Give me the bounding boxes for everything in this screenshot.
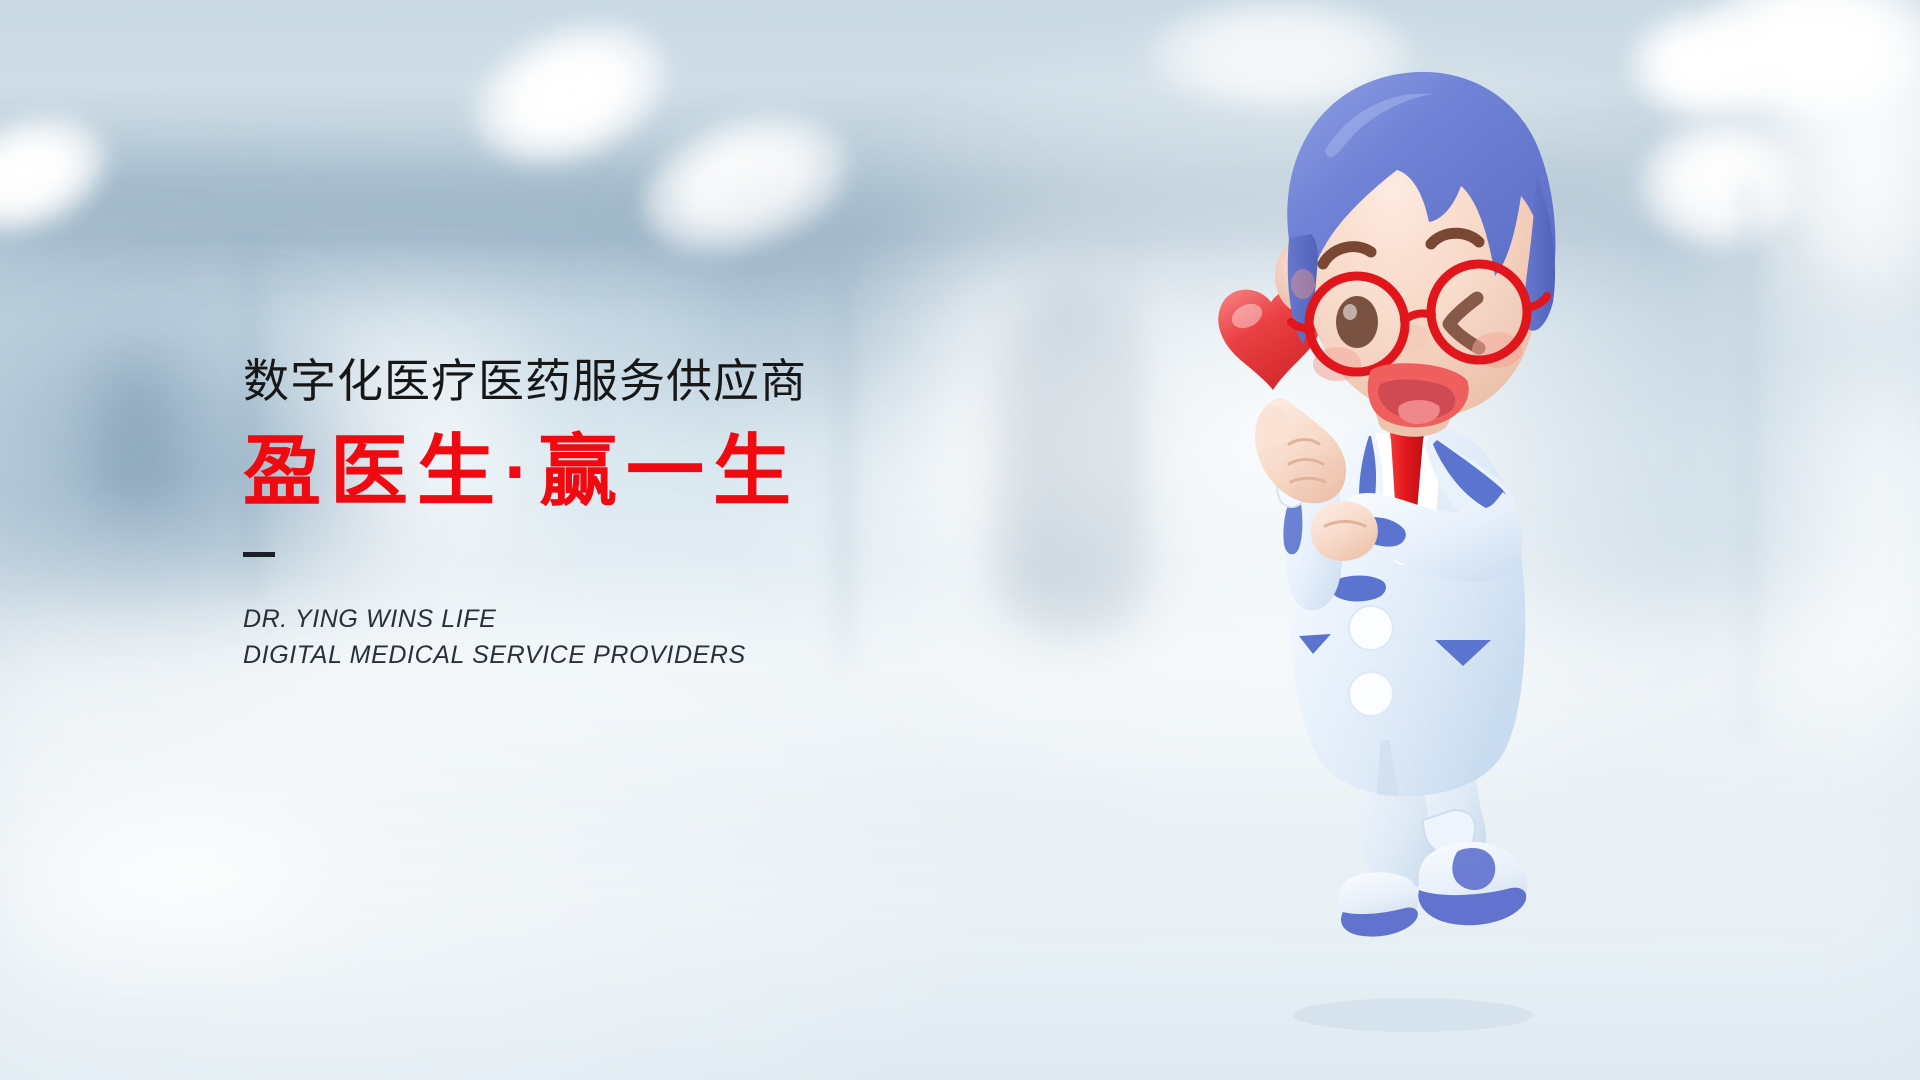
blush-ear-left (1291, 269, 1315, 299)
hero-title: 盈医生·赢一生 (243, 428, 1003, 515)
subtitle-line-2: DIGITAL MEDICAL SERVICE PROVIDERS (243, 637, 1003, 674)
mascot-shadow (1293, 998, 1533, 1032)
shoe-front-strap (1452, 848, 1495, 890)
coat-button-top (1349, 606, 1393, 650)
subtitle-line-1: DR. YING WINS LIFE (243, 601, 1003, 638)
coat-button-bottom (1349, 672, 1393, 716)
glasses-lens-right (1431, 264, 1527, 360)
hero-copy: 数字化医疗医药服务供应商 盈医生·赢一生 DR. YING WINS LIFE … (243, 355, 1003, 674)
hero-headline: 数字化医疗医药服务供应商 (243, 355, 1003, 408)
title-divider (243, 552, 275, 557)
hand-resting (1311, 501, 1378, 561)
hero-subtitles: DR. YING WINS LIFE DIGITAL MEDICAL SERVI… (243, 601, 1003, 674)
hero-banner: 数字化医疗医药服务供应商 盈医生·赢一生 DR. YING WINS LIFE … (0, 0, 1920, 1080)
glasses-lens-left (1309, 276, 1405, 372)
doctor-mascot-illustration (1185, 40, 1625, 1050)
